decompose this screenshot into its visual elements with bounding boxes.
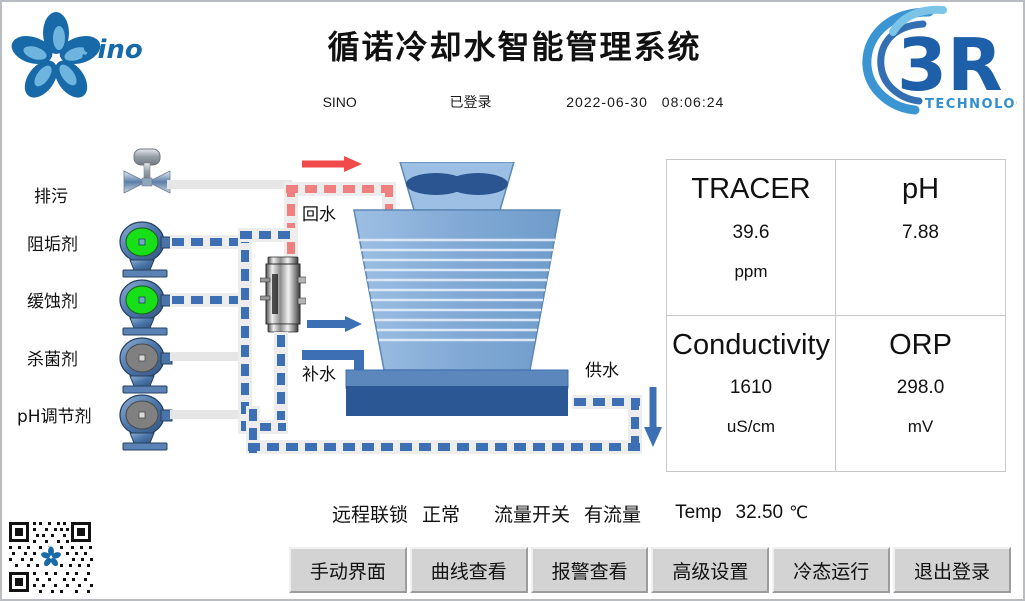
supply-water-label: 供水 — [585, 356, 619, 381]
pump-scale-inhibitor[interactable] — [117, 220, 173, 278]
chem-label-ph-adjuster: pH调节剂 — [17, 402, 92, 427]
cooling-tower — [332, 162, 582, 422]
measurement-tracer: TRACER 39.6 ppm — [667, 160, 836, 316]
measurement-value: 39.6 — [733, 222, 770, 244]
chem-label-biocide: 杀菌剂 — [27, 345, 78, 370]
remote-interlock-value: 正常 — [422, 500, 460, 527]
blowdown-pipe — [167, 180, 292, 189]
application-window: sino 3R TECHNOLOGY 循诺冷却水智能管理系统 SINO 已登录 … — [0, 0, 1025, 601]
cold-start-button[interactable]: 冷态运行 — [772, 547, 890, 593]
sidestream-pipe-vertical — [241, 231, 249, 431]
measurement-orp: ORP 298.0 mV — [836, 316, 1005, 472]
qr-code — [4, 519, 104, 597]
curve-view-button[interactable]: 曲线查看 — [410, 547, 528, 593]
supply-flow-arrow — [642, 387, 664, 449]
header-meta: SINO 已登录 2022-06-30 08:06:24 — [2, 92, 1025, 112]
measurement-unit: mV — [908, 417, 934, 437]
tower-basin — [346, 386, 568, 416]
return-pipe-left — [287, 185, 295, 263]
supply-pipe-right — [631, 398, 639, 448]
measurements-panel: TRACER 39.6 ppm pH 7.88 Conductivity 161… — [666, 159, 1006, 472]
advanced-settings-button[interactable]: 高级设置 — [651, 547, 769, 593]
chem-label-scale-inhibitor: 阻垢剂 — [27, 230, 78, 255]
pump-ph-adjuster[interactable] — [117, 393, 173, 451]
current-user: SINO — [305, 94, 375, 110]
measurement-conductivity: Conductivity 1610 uS/cm — [667, 316, 836, 472]
measurement-name: pH — [902, 174, 939, 206]
manual-interface-button[interactable]: 手动界面 — [289, 547, 407, 593]
measurement-value: 298.0 — [897, 377, 945, 399]
tower-basin-rim — [346, 370, 568, 388]
status-row: 远程联锁 正常 流量开关 有流量 Temp 32.50 ℃ — [332, 497, 1012, 529]
measurement-name: TRACER — [691, 174, 810, 206]
flow-switch-value: 有流量 — [584, 500, 641, 527]
supply-pipe-left — [249, 409, 257, 453]
alarm-view-button[interactable]: 报警查看 — [531, 547, 649, 593]
logout-button[interactable]: 退出登录 — [893, 547, 1011, 593]
makeup-water-label: 补水 — [302, 360, 336, 385]
chem-label-blowdown: 排污 — [34, 182, 68, 207]
temperature-value: 32.50 — [736, 502, 784, 524]
login-status: 已登录 — [422, 92, 518, 112]
measurement-value: 7.88 — [902, 222, 939, 244]
measurement-ph: pH 7.88 — [836, 160, 1005, 316]
sidestream-pipe-top — [240, 231, 296, 239]
analyzer-down-pipe — [277, 335, 285, 431]
temperature-label: Temp — [675, 502, 721, 524]
pump-biocide[interactable] — [117, 336, 173, 394]
remote-interlock-label: 远程联锁 — [332, 500, 408, 527]
measurement-value: 1610 — [730, 377, 772, 399]
chem-label-corrosion-inhibitor: 缓蚀剂 — [27, 287, 78, 312]
system-date: 2022-06-30 — [566, 94, 648, 110]
page-title: 循诺冷却水智能管理系统 — [2, 22, 1025, 68]
system-time: 08:06:24 — [662, 94, 725, 110]
measurement-unit: uS/cm — [727, 417, 775, 437]
button-bar: 手动界面 曲线查看 报警查看 高级设置 冷态运行 退出登录 — [289, 547, 1011, 593]
measurement-unit: ppm — [734, 262, 767, 282]
measurement-name: ORP — [889, 330, 952, 362]
temperature-unit: ℃ — [789, 503, 808, 523]
blowdown-valve[interactable] — [114, 147, 184, 207]
measurement-name: Conductivity — [672, 330, 830, 362]
fan-blade-right — [448, 173, 508, 195]
supply-pipe-bottom — [248, 443, 640, 451]
flow-switch-label: 流量开关 — [494, 500, 570, 527]
return-water-label: 回水 — [302, 200, 336, 225]
pump-corrosion-inhibitor[interactable] — [117, 278, 173, 336]
